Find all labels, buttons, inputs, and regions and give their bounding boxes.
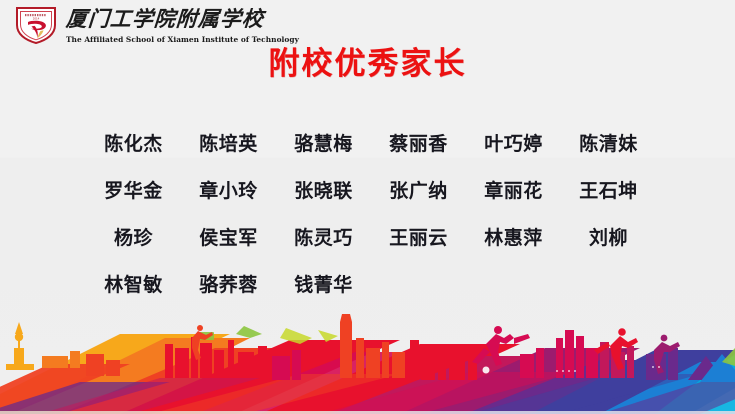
parent-name: 刘柳 (561, 223, 656, 250)
school-name-cn: 厦门工学院附属学校 (65, 6, 300, 32)
parent-name: 叶巧婷 (466, 129, 561, 156)
parent-name: 林惠萍 (466, 223, 561, 250)
parent-name: 林智敏 (86, 270, 181, 297)
parent-name: 陈化杰 (86, 129, 181, 156)
parent-name: 骆荞蓉 (181, 270, 276, 297)
page-title: 附校优秀家长 (0, 38, 735, 83)
parent-name: 章丽花 (466, 176, 561, 203)
colorful-city-skyline-decoration (0, 304, 735, 414)
svg-text:2014: 2014 (33, 17, 40, 21)
honored-parents-name-grid: 陈化杰 陈培英 骆慧梅 蔡丽香 叶巧婷 陈清妹 罗华金 章小玲 张晓联 张广纳 … (86, 119, 656, 307)
name-row: 陈化杰 陈培英 骆慧梅 蔡丽香 叶巧婷 陈清妹 (86, 119, 656, 166)
parent-name: 张晓联 (276, 176, 371, 203)
parent-name: 陈清妹 (561, 129, 656, 156)
name-row: 杨珍 侯宝军 陈灵巧 王丽云 林惠萍 刘柳 (86, 213, 656, 260)
parent-name: 侯宝军 (181, 223, 276, 250)
parent-name: 钱菁华 (276, 270, 371, 297)
parent-name: 王石坤 (561, 176, 656, 203)
parent-name: 章小玲 (181, 176, 276, 203)
name-row: 罗华金 章小玲 张晓联 张广纳 章丽花 王石坤 (86, 166, 656, 213)
parent-name: 蔡丽香 (371, 129, 466, 156)
parent-name: 张广纳 (371, 176, 466, 203)
name-row: 林智敏 骆荞蓉 钱菁华 (86, 260, 656, 307)
parent-name: 罗华金 (86, 176, 181, 203)
parent-name: 骆慧梅 (276, 129, 371, 156)
parent-name: 陈灵巧 (276, 223, 371, 250)
parent-name: 陈培英 (181, 129, 276, 156)
parent-name: 王丽云 (371, 223, 466, 250)
parent-name: 杨珍 (86, 223, 181, 250)
slide-canvas: 2014 厦门工学院附属学校 The Affiliated School of … (0, 0, 735, 414)
